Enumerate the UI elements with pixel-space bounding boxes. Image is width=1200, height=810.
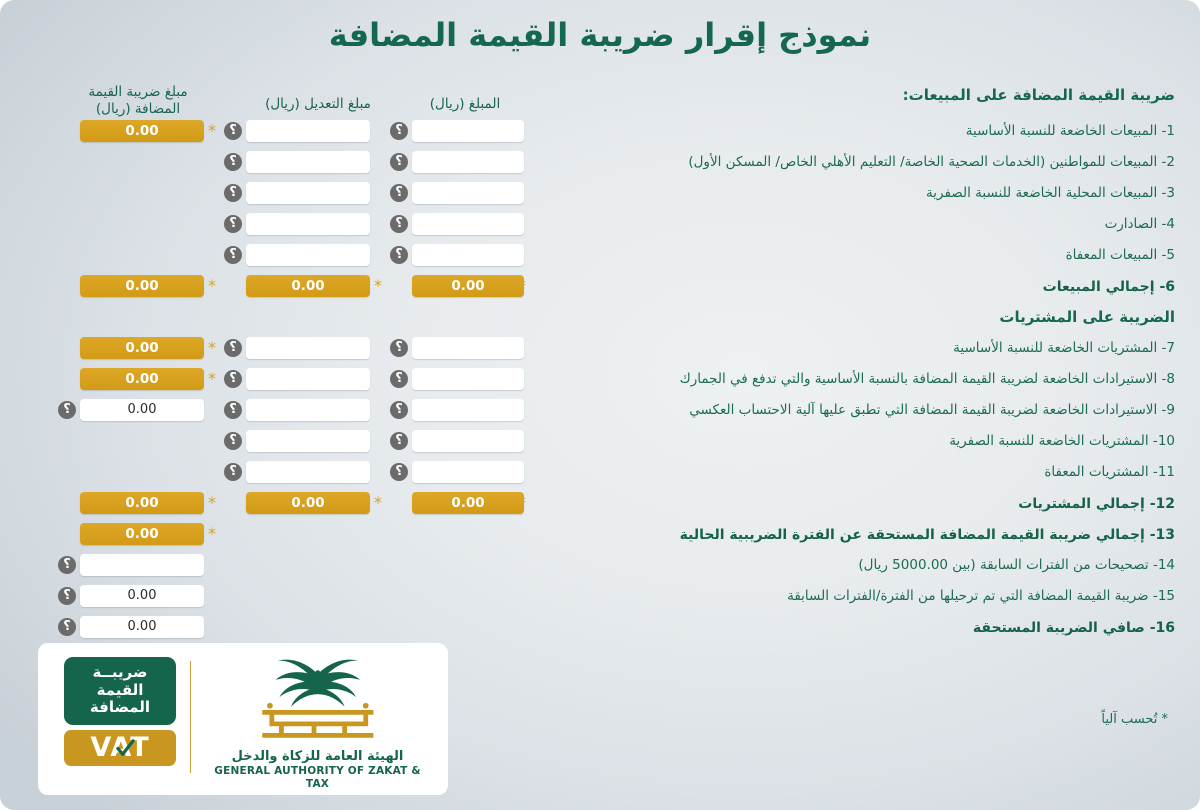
- help-icon-amount-row-1[interactable]: ؟: [390, 122, 408, 140]
- vat-logo: ضريبــة القيمة المضافة VAT: [64, 657, 176, 766]
- input-amount-row-1[interactable]: [412, 120, 524, 142]
- help-icon-adj-row-5[interactable]: ؟: [224, 246, 242, 264]
- input-amount-row-7[interactable]: [412, 337, 524, 359]
- row-label-5: 5- المبيعات المعفاة: [1066, 249, 1175, 263]
- gazt-logo-english-name: GENERAL AUTHORITY OF ZAKAT & TAX: [210, 765, 425, 792]
- check-icon: [116, 739, 135, 758]
- help-icon-vat-row-15[interactable]: ؟: [58, 587, 76, 605]
- row-label-15: 15- ضريبة القيمة المضافة التي تم ترحيلها…: [787, 590, 1175, 604]
- row-label-8: 8- الاستيرادات الخاضعة لضريبة القيمة الم…: [680, 373, 1175, 387]
- vat-logo-line-1: ضريبــة: [70, 664, 170, 682]
- field-adj-row-12: 0.00: [246, 492, 370, 514]
- help-icon-amount-row-11[interactable]: ؟: [390, 463, 408, 481]
- help-icon-amount-row-4[interactable]: ؟: [390, 215, 408, 233]
- help-icon-amount-row-7[interactable]: ؟: [390, 339, 408, 357]
- row-label-14: 14- تصحيحات من الفترات السابقة (بين 5000…: [858, 559, 1175, 573]
- logo-divider: [190, 661, 191, 773]
- input-vat-row-14[interactable]: [80, 554, 204, 576]
- help-icon-vat-row-16[interactable]: ؟: [58, 618, 76, 636]
- input-adj-row-1[interactable]: [246, 120, 370, 142]
- field-vat-row-6: 0.00: [80, 275, 204, 297]
- help-icon-adj-row-9[interactable]: ؟: [224, 401, 242, 419]
- vat-logo-badge: VAT: [64, 730, 176, 766]
- auto-calc-asterisk-vat-row-13: *: [206, 526, 218, 542]
- help-icon-adj-row-1[interactable]: ؟: [224, 122, 242, 140]
- field-vat-row-1: 0.00: [80, 120, 204, 142]
- help-icon-adj-row-11[interactable]: ؟: [224, 463, 242, 481]
- input-amount-row-4[interactable]: [412, 213, 524, 235]
- help-icon-amount-row-9[interactable]: ؟: [390, 401, 408, 419]
- input-amount-row-3[interactable]: [412, 182, 524, 204]
- help-icon-amount-row-3[interactable]: ؟: [390, 184, 408, 202]
- gazt-logo-arabic-name: الهيئة العامة للزكاة والدخل: [210, 749, 425, 765]
- row-label-1: 1- المبيعات الخاضعة للنسبة الأساسية: [966, 125, 1175, 139]
- help-icon-amount-row-8[interactable]: ؟: [390, 370, 408, 388]
- auto-calc-asterisk-vat-row-12: *: [206, 495, 218, 511]
- auto-calc-asterisk-amount-row-12: *: [516, 495, 528, 511]
- column-header-vat-amount: مبلغ ضريبة القيمة المضافة (ريال): [72, 84, 204, 118]
- field-vat-row-8: 0.00: [80, 368, 204, 390]
- input-adj-row-4[interactable]: [246, 213, 370, 235]
- field-amount-row-6: 0.00: [412, 275, 524, 297]
- row-label-7: 7- المشتريات الخاضعة للنسبة الأساسية: [953, 342, 1175, 356]
- row-label-10: 10- المشتريات الخاضعة للنسبة الصفرية: [949, 435, 1175, 449]
- help-icon-adj-row-2[interactable]: ؟: [224, 153, 242, 171]
- help-icon-adj-row-3[interactable]: ؟: [224, 184, 242, 202]
- row-label-13: 13- إجمالي ضريبة القيمة المضافة المستحقة…: [680, 528, 1175, 542]
- auto-calc-asterisk-adj-row-6: *: [372, 278, 384, 294]
- help-icon-amount-row-5[interactable]: ؟: [390, 246, 408, 264]
- field-vat-row-13: 0.00: [80, 523, 204, 545]
- auto-calc-asterisk-vat-row-7: *: [206, 340, 218, 356]
- row-label-6: 6- إجمالي المبيعات: [1043, 280, 1175, 294]
- help-icon-amount-row-2[interactable]: ؟: [390, 153, 408, 171]
- auto-calc-asterisk-vat-row-6: *: [206, 278, 218, 294]
- help-icon-adj-row-4[interactable]: ؟: [224, 215, 242, 233]
- input-adj-row-9[interactable]: [246, 399, 370, 421]
- row-label-12: 12- إجمالي المشتريات: [1018, 497, 1175, 511]
- vat-logo-line-2: القيمة: [70, 682, 170, 700]
- input-adj-row-5[interactable]: [246, 244, 370, 266]
- vat-declaration-form: نموذج إقرار ضريبة القيمة المضافة مبلغ ضر…: [0, 0, 1200, 810]
- input-adj-row-2[interactable]: [246, 151, 370, 173]
- help-icon-amount-row-10[interactable]: ؟: [390, 432, 408, 450]
- row-label-3: 3- المبيعات المحلية الخاضعة للنسبة الصفر…: [926, 187, 1175, 201]
- input-amount-row-9[interactable]: [412, 399, 524, 421]
- auto-calc-asterisk-vat-row-8: *: [206, 371, 218, 387]
- row-label-9: 9- الاستيرادات الخاضعة لضريبة القيمة الم…: [689, 404, 1175, 418]
- row-label-11: 11- المشتريات المعفاة: [1044, 466, 1175, 480]
- palm-tree-and-calligraphy-icon: [222, 653, 414, 745]
- section-heading-sales: ضريبة القيمة المضافة على المبيعات:: [903, 86, 1175, 104]
- logo-panel: ضريبــة القيمة المضافة VAT: [38, 643, 448, 795]
- input-vat-row-16[interactable]: 0.00: [80, 616, 204, 638]
- column-header-adjustment: مبلغ التعديل (ريال): [238, 96, 398, 113]
- vat-logo-line-3: المضافة: [70, 699, 170, 717]
- help-icon-adj-row-7[interactable]: ؟: [224, 339, 242, 357]
- field-adj-row-6: 0.00: [246, 275, 370, 297]
- input-adj-row-8[interactable]: [246, 368, 370, 390]
- help-icon-adj-row-10[interactable]: ؟: [224, 432, 242, 450]
- input-vat-row-9[interactable]: 0.00: [80, 399, 204, 421]
- input-amount-row-10[interactable]: [412, 430, 524, 452]
- field-vat-row-7: 0.00: [80, 337, 204, 359]
- input-amount-row-8[interactable]: [412, 368, 524, 390]
- row-label-2: 2- المبيعات للمواطنين (الخدمات الصحية ال…: [688, 156, 1175, 170]
- input-vat-row-15[interactable]: 0.00: [80, 585, 204, 607]
- help-icon-vat-row-9[interactable]: ؟: [58, 401, 76, 419]
- auto-calc-asterisk-adj-row-12: *: [372, 495, 384, 511]
- row-label-4: 4- الصادارت: [1105, 218, 1175, 232]
- field-vat-row-12: 0.00: [80, 492, 204, 514]
- help-icon-adj-row-8[interactable]: ؟: [224, 370, 242, 388]
- gazt-logo: الهيئة العامة للزكاة والدخل GENERAL AUTH…: [210, 653, 425, 792]
- auto-calc-asterisk-amount-row-6: *: [516, 278, 528, 294]
- column-header-amount: المبلغ (ريال): [404, 96, 526, 113]
- input-adj-row-11[interactable]: [246, 461, 370, 483]
- field-amount-row-12: 0.00: [412, 492, 524, 514]
- row-label-16: 16- صافي الضريبة المستحقة: [973, 621, 1175, 635]
- auto-calc-asterisk-vat-row-1: *: [206, 123, 218, 139]
- section-heading-purchases: الضريبة على المشتريات: [999, 308, 1175, 326]
- input-adj-row-3[interactable]: [246, 182, 370, 204]
- input-amount-row-5[interactable]: [412, 244, 524, 266]
- footnote-auto-calculated: * تُحسب آلياً: [1101, 712, 1168, 727]
- input-amount-row-2[interactable]: [412, 151, 524, 173]
- input-amount-row-11[interactable]: [412, 461, 524, 483]
- input-adj-row-10[interactable]: [246, 430, 370, 452]
- help-icon-vat-row-14[interactable]: ؟: [58, 556, 76, 574]
- input-adj-row-7[interactable]: [246, 337, 370, 359]
- vat-logo-box: ضريبــة القيمة المضافة: [64, 657, 176, 725]
- page-title: نموذج إقرار ضريبة القيمة المضافة: [0, 16, 1200, 54]
